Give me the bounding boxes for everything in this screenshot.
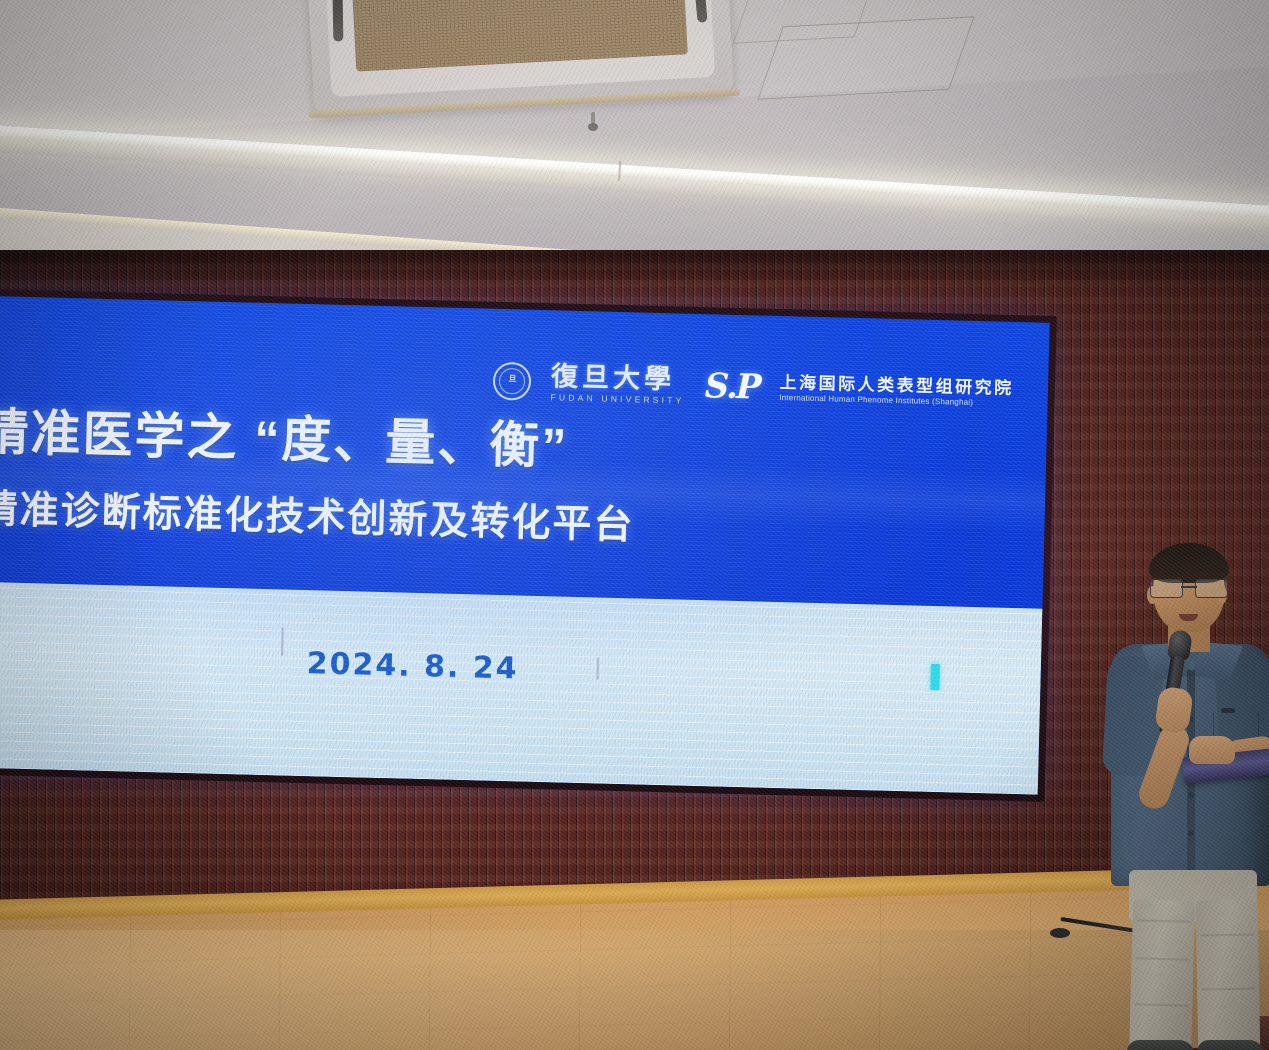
wall-top-shadow [0,250,1269,290]
ihpi-logo-icon: S.P [704,366,760,407]
presenter-leg-right [1196,899,1261,1050]
fudan-wordmark: 復旦大學 FUDAN UNIVERSITY [551,363,686,405]
glasses-lens-left [1150,579,1183,598]
presenter-leg-left [1129,899,1195,1050]
presenter-shoe-right [1197,1040,1265,1050]
trouser-fold [1201,988,1255,990]
slide-subtitle: 精准诊断标准化技术创新及转化平台 [0,478,635,551]
slide-surface: 旦 復旦大學 FUDAN UNIVERSITY S.P 上海国际人类表型组研究院… [0,296,1050,795]
fudan-seal-icon: 旦 [493,362,532,401]
ceiling-cassette-air-conditioner [306,0,734,116]
fudan-english-name: FUDAN UNIVERSITY [551,393,685,405]
trouser-fold [1137,919,1191,922]
glasses-lens-right [1195,579,1228,598]
slide-date: 2024. 8. 24 [306,646,519,686]
slide-logo-row: 旦 復旦大學 FUDAN UNIVERSITY S.P 上海国际人类表型组研究院… [493,361,1014,414]
mic-stand-foot [1050,928,1070,938]
presenter-glasses [1150,579,1228,596]
presenter-shirt-button-3 [1188,792,1194,798]
presenter-pocket-pen [1221,708,1235,713]
sprinkler-deflector [588,123,598,131]
fudan-seal-text: 旦 [495,373,529,385]
presenter-shirt-button-4 [1188,830,1194,836]
ihpi-wordmark: 上海国际人类表型组研究院 International Human Phenome… [779,374,1014,408]
linear-light-tube [0,122,1269,222]
glasses-bridge [1181,586,1197,588]
trouser-fold [1134,1003,1188,1006]
ac-vane-left [332,0,343,42]
cyan-marker-icon [930,664,940,690]
fire-sprinkler-head [588,112,598,134]
trouser-fold [1200,934,1254,936]
panel-artifact-center [596,657,599,679]
ceiling-access-panel-secondary [733,0,874,44]
trouser-fold [1136,957,1190,960]
slide-lower-panel: 2024. 8. 24 [0,582,1042,795]
led-presentation-screen[interactable]: 旦 復旦大學 FUDAN UNIVERSITY S.P 上海国际人类表型组研究院… [0,296,1050,795]
panel-artifact-left [281,627,284,655]
presenter [1105,548,1269,1050]
presenter-shoe-left [1127,1040,1195,1050]
presenter-hand-right [1189,736,1235,764]
fudan-chinese-name: 復旦大學 [551,363,685,393]
presentation-hall-photo: 旦 復旦大學 FUDAN UNIVERSITY S.P 上海国际人类表型组研究院… [0,0,1269,1050]
slide-title: 精准医学之 “度、量、衡” [0,392,569,479]
